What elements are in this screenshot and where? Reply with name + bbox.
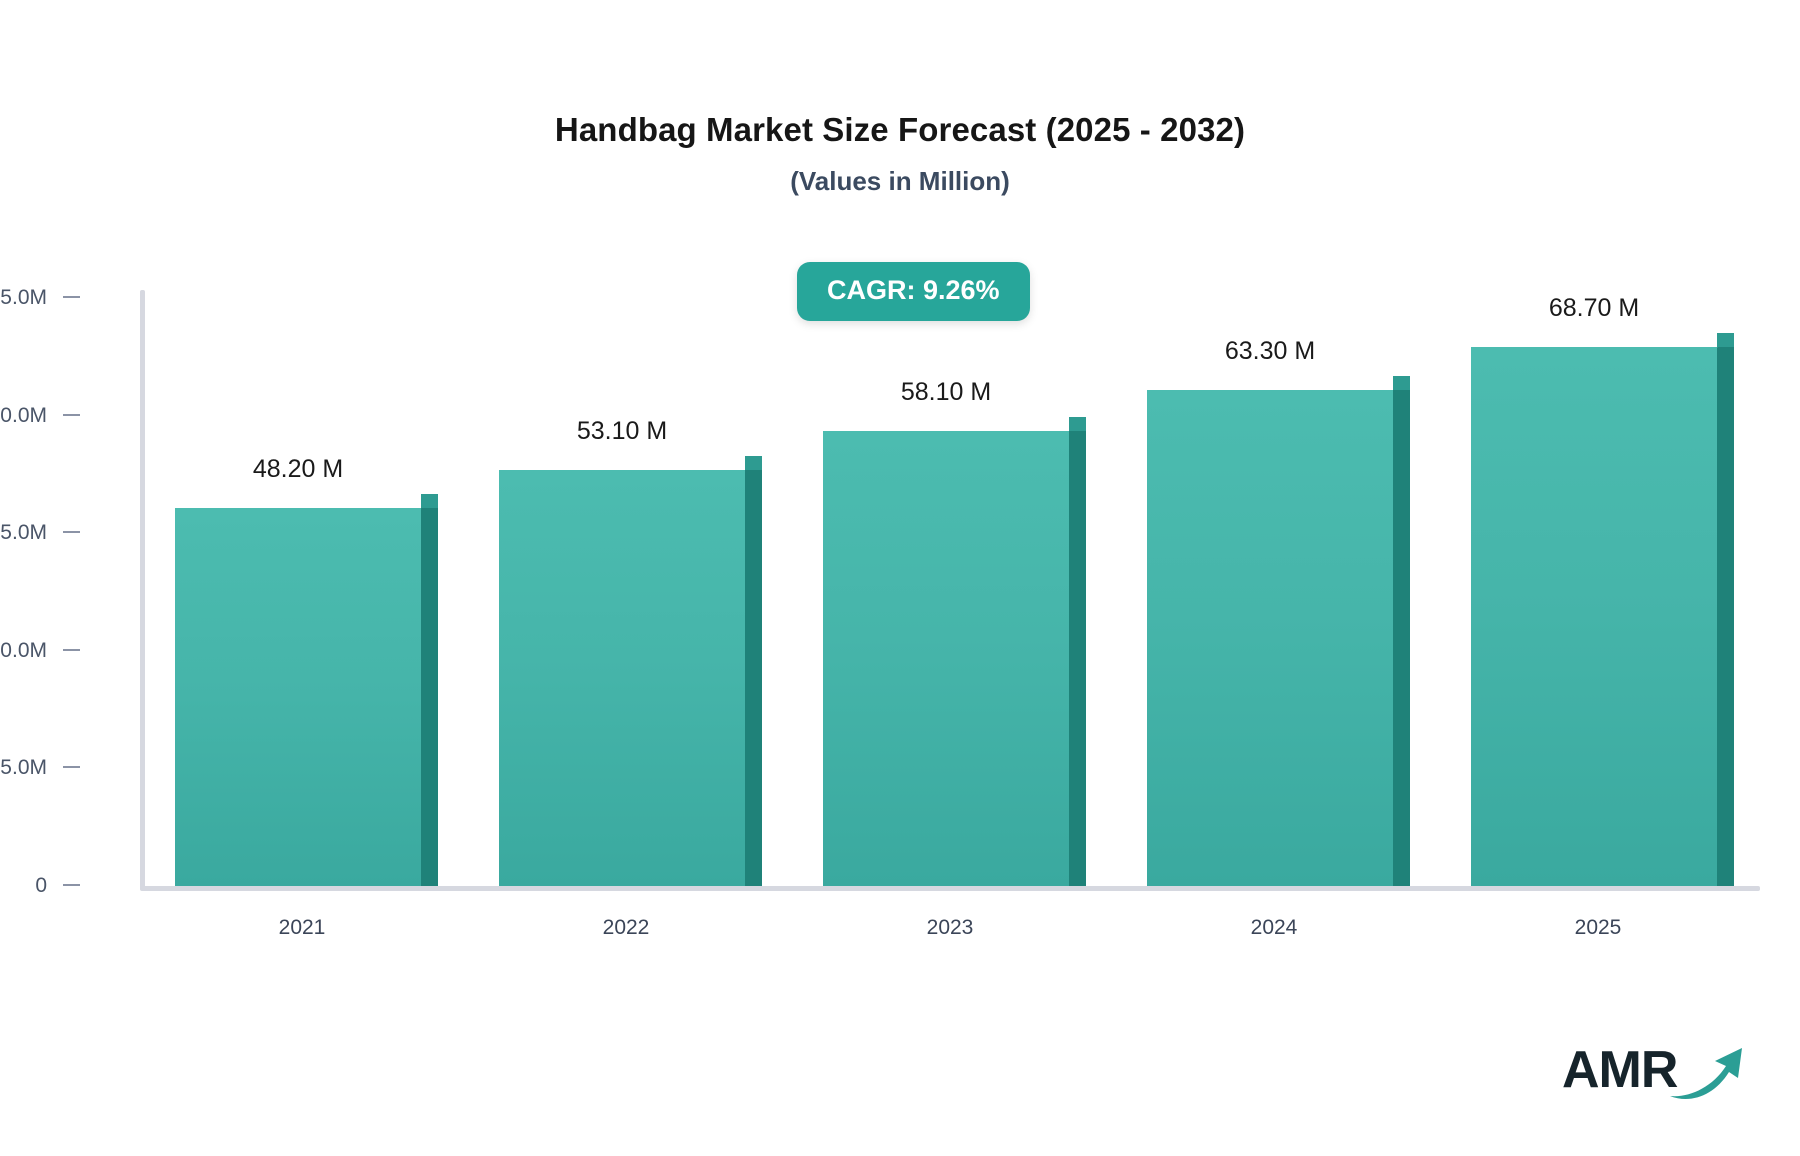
bar-front-face xyxy=(1471,347,1717,886)
chart-card: Handbag Market Size Forecast (2025 - 203… xyxy=(0,0,1800,1156)
bar[interactable] xyxy=(175,508,421,886)
bar-series: 48.20 M53.10 M58.10 M63.30 M68.70 M xyxy=(140,290,1760,890)
y-axis-tick-text: 75.0M xyxy=(0,286,47,309)
bar-slot: 63.30 M xyxy=(1147,286,1393,886)
y-axis-tick-mark xyxy=(63,649,80,651)
y-axis-tick-label: 30.0M xyxy=(0,639,80,663)
y-axis-tick-label: 60.0M xyxy=(0,404,80,428)
y-axis-tick-text: 30.0M xyxy=(0,639,47,662)
bar-top-face xyxy=(745,456,762,470)
bar-value-label: 63.30 M xyxy=(1147,337,1393,366)
y-axis-tick-mark xyxy=(63,766,80,768)
y-axis-tick-label: 0 xyxy=(0,874,80,898)
bar-side-face xyxy=(745,470,762,886)
bar-front-face xyxy=(499,470,745,886)
bar-value-label: 48.20 M xyxy=(175,455,421,484)
bar-slot: 68.70 M xyxy=(1471,286,1717,886)
chart-subtitle: (Values in Million) xyxy=(0,166,1800,197)
y-axis-tick-mark xyxy=(63,414,80,416)
y-axis-tick-label: 75.0M xyxy=(0,286,80,310)
y-axis-tick-text: 15.0M xyxy=(0,756,47,779)
bar-top-face xyxy=(1069,417,1086,431)
y-axis-tick-text: 0 xyxy=(35,874,47,897)
bar-front-face xyxy=(1147,390,1393,886)
bar-front-face xyxy=(175,508,421,886)
bar-top-face xyxy=(1717,333,1734,347)
bar-front-face xyxy=(823,431,1069,887)
bar[interactable] xyxy=(499,470,745,886)
y-axis-tick-mark xyxy=(63,296,80,298)
bar[interactable] xyxy=(823,431,1069,887)
bar-value-label: 53.10 M xyxy=(499,417,745,446)
bar-slot: 48.20 M xyxy=(175,286,421,886)
x-axis-tick-label: 2022 xyxy=(464,916,788,940)
amr-logo-text: AMR xyxy=(1562,1040,1677,1100)
bar-side-face xyxy=(421,508,438,886)
y-axis-tick-label: 15.0M xyxy=(0,756,80,780)
y-axis-tick-mark xyxy=(63,884,80,886)
bar-side-face xyxy=(1717,347,1734,886)
x-axis-tick-label: 2024 xyxy=(1112,916,1436,940)
chart-title-block: Handbag Market Size Forecast (2025 - 203… xyxy=(0,110,1800,197)
bar-value-label: 58.10 M xyxy=(823,378,1069,407)
y-axis-tick-mark xyxy=(63,531,80,533)
bar-slot: 53.10 M xyxy=(499,286,745,886)
bar[interactable] xyxy=(1471,347,1717,886)
x-axis-tick-label: 2025 xyxy=(1436,916,1760,940)
y-axis-tick-text: 60.0M xyxy=(0,404,47,427)
plot-area: 75.0M60.0M45.0M30.0M15.0M0 48.20 M53.10 … xyxy=(140,290,1760,890)
y-axis-tick-text: 45.0M xyxy=(0,521,47,544)
bar-side-face xyxy=(1393,390,1410,886)
bar-side-face xyxy=(1069,431,1086,887)
bar-top-face xyxy=(421,494,438,508)
bar[interactable] xyxy=(1147,390,1393,886)
y-axis-tick-label: 45.0M xyxy=(0,521,80,545)
x-axis-tick-label: 2023 xyxy=(788,916,1112,940)
amr-logo: AMR xyxy=(1562,1038,1742,1104)
bar-value-label: 68.70 M xyxy=(1471,294,1717,323)
page-title: Handbag Market Size Forecast (2025 - 203… xyxy=(0,110,1800,150)
bar-slot: 58.10 M xyxy=(823,286,1069,886)
bar-top-face xyxy=(1393,376,1410,390)
growth-arrow-icon xyxy=(1668,1044,1746,1102)
x-axis-tick-label: 2021 xyxy=(140,916,464,940)
